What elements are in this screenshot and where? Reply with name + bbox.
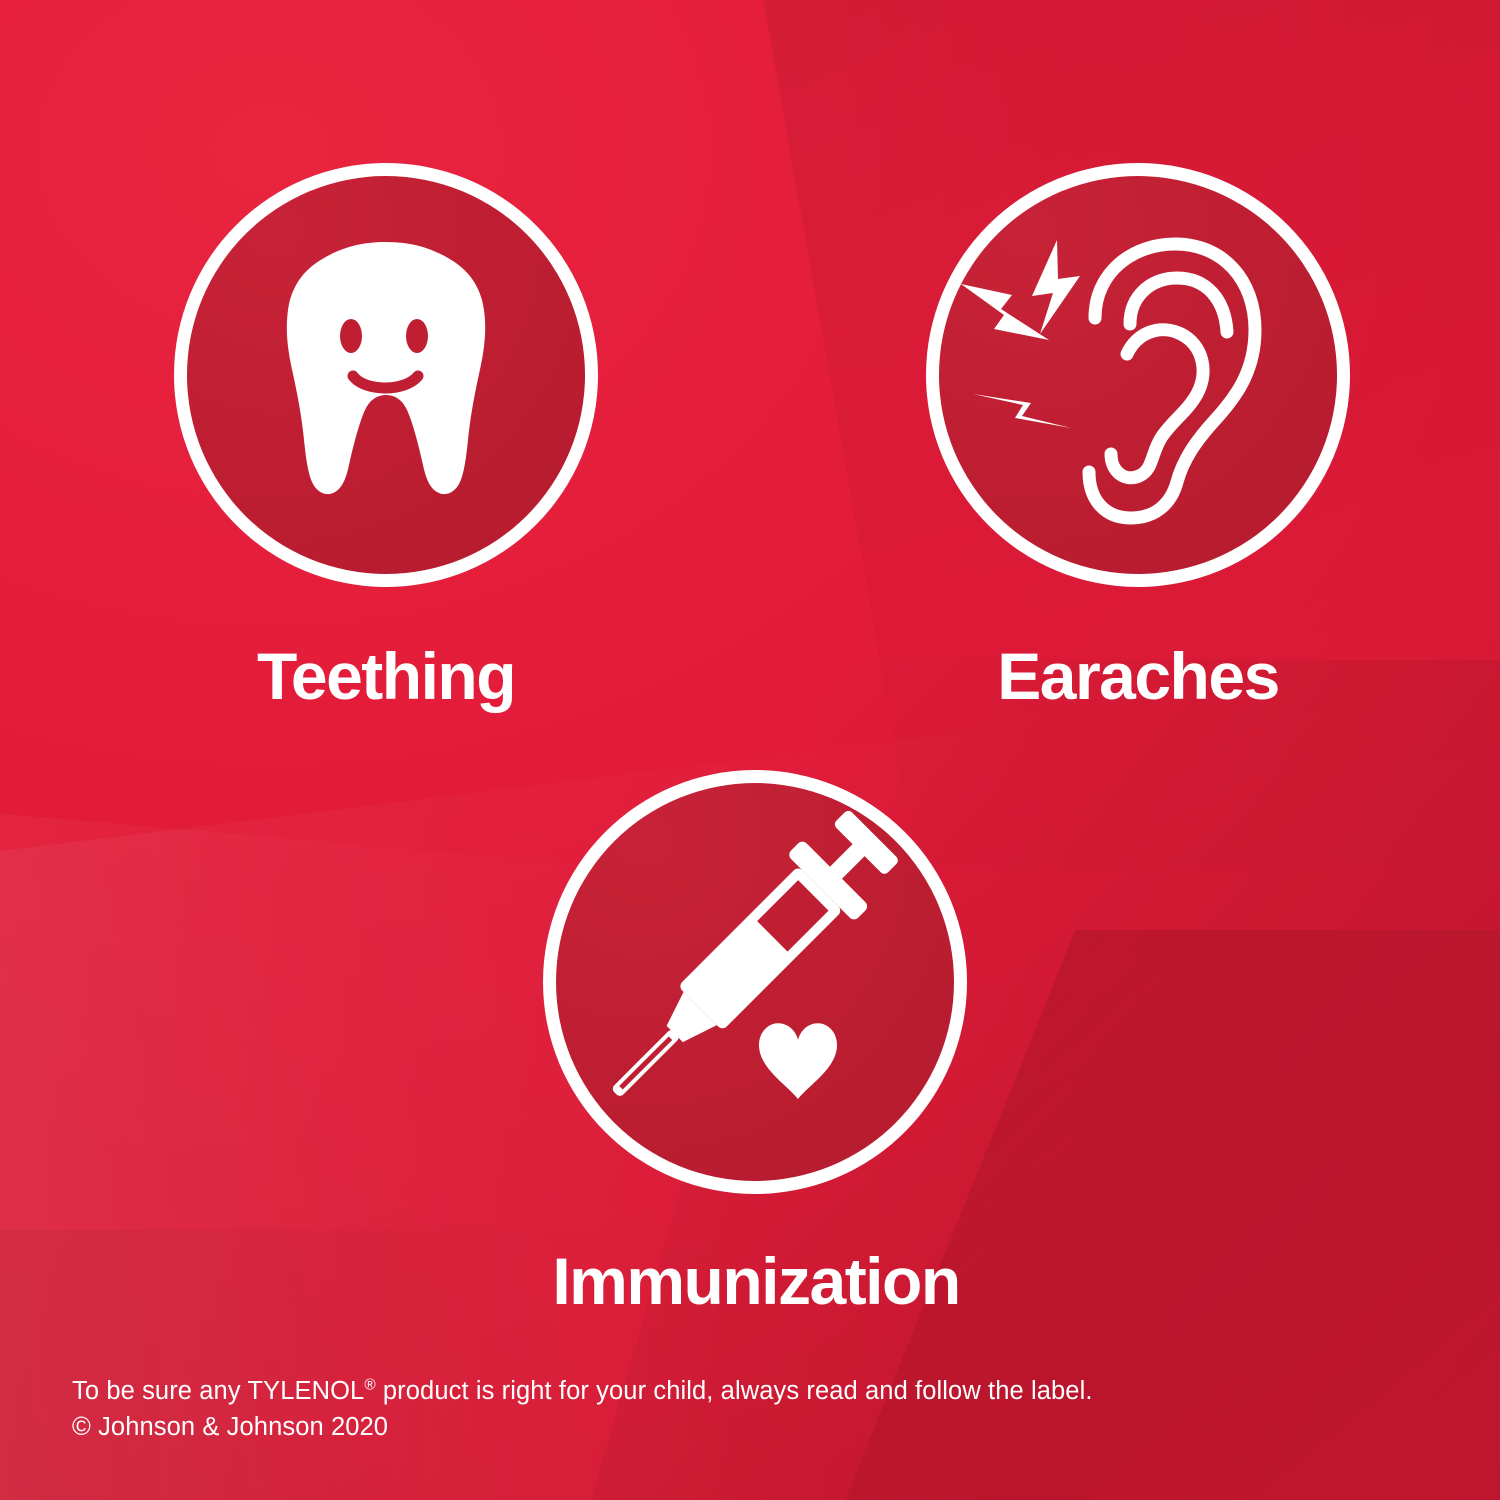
- tooth-eye-right: [406, 319, 428, 353]
- heart-icon: [759, 1023, 837, 1099]
- badge-immunization: [543, 770, 967, 1194]
- bolt-upper: [1032, 240, 1080, 334]
- footer-brand: TYLENOL: [247, 1377, 364, 1405]
- registered-mark-icon: ®: [364, 1377, 375, 1394]
- syringe-barrel: [678, 866, 843, 1031]
- tooth-icon: [187, 176, 585, 574]
- label-earaches: Earaches: [728, 643, 1500, 709]
- badge-immunization-inner: [556, 783, 954, 1181]
- label-teething: Teething: [0, 643, 772, 709]
- tooth-eye-left: [340, 319, 362, 353]
- syringe-needle-bore: [619, 1036, 672, 1089]
- ear-pain-bolts: [961, 240, 1080, 428]
- syringe-heart-icon: [556, 783, 954, 1181]
- footer-text-after-brand: product is right for your child, always …: [376, 1377, 1093, 1405]
- badge-earaches: [926, 163, 1350, 587]
- footer-line-2: © Johnson & Johnson 2020: [72, 1409, 1452, 1445]
- badge-teething-inner: [187, 176, 585, 574]
- tylenol-symptom-infographic: Teething Earaches: [0, 0, 1500, 1500]
- badge-earaches-inner: [939, 176, 1337, 574]
- footer-line-1: To be sure any TYLENOL® product is right…: [72, 1373, 1452, 1409]
- bolt-lower: [973, 394, 1071, 428]
- footer-text-before-brand: To be sure any: [72, 1377, 247, 1405]
- badge-teething: [174, 163, 598, 587]
- legal-footer: To be sure any TYLENOL® product is right…: [72, 1373, 1452, 1445]
- ear-pain-icon: [939, 176, 1337, 574]
- label-immunization: Immunization: [0, 1248, 1500, 1314]
